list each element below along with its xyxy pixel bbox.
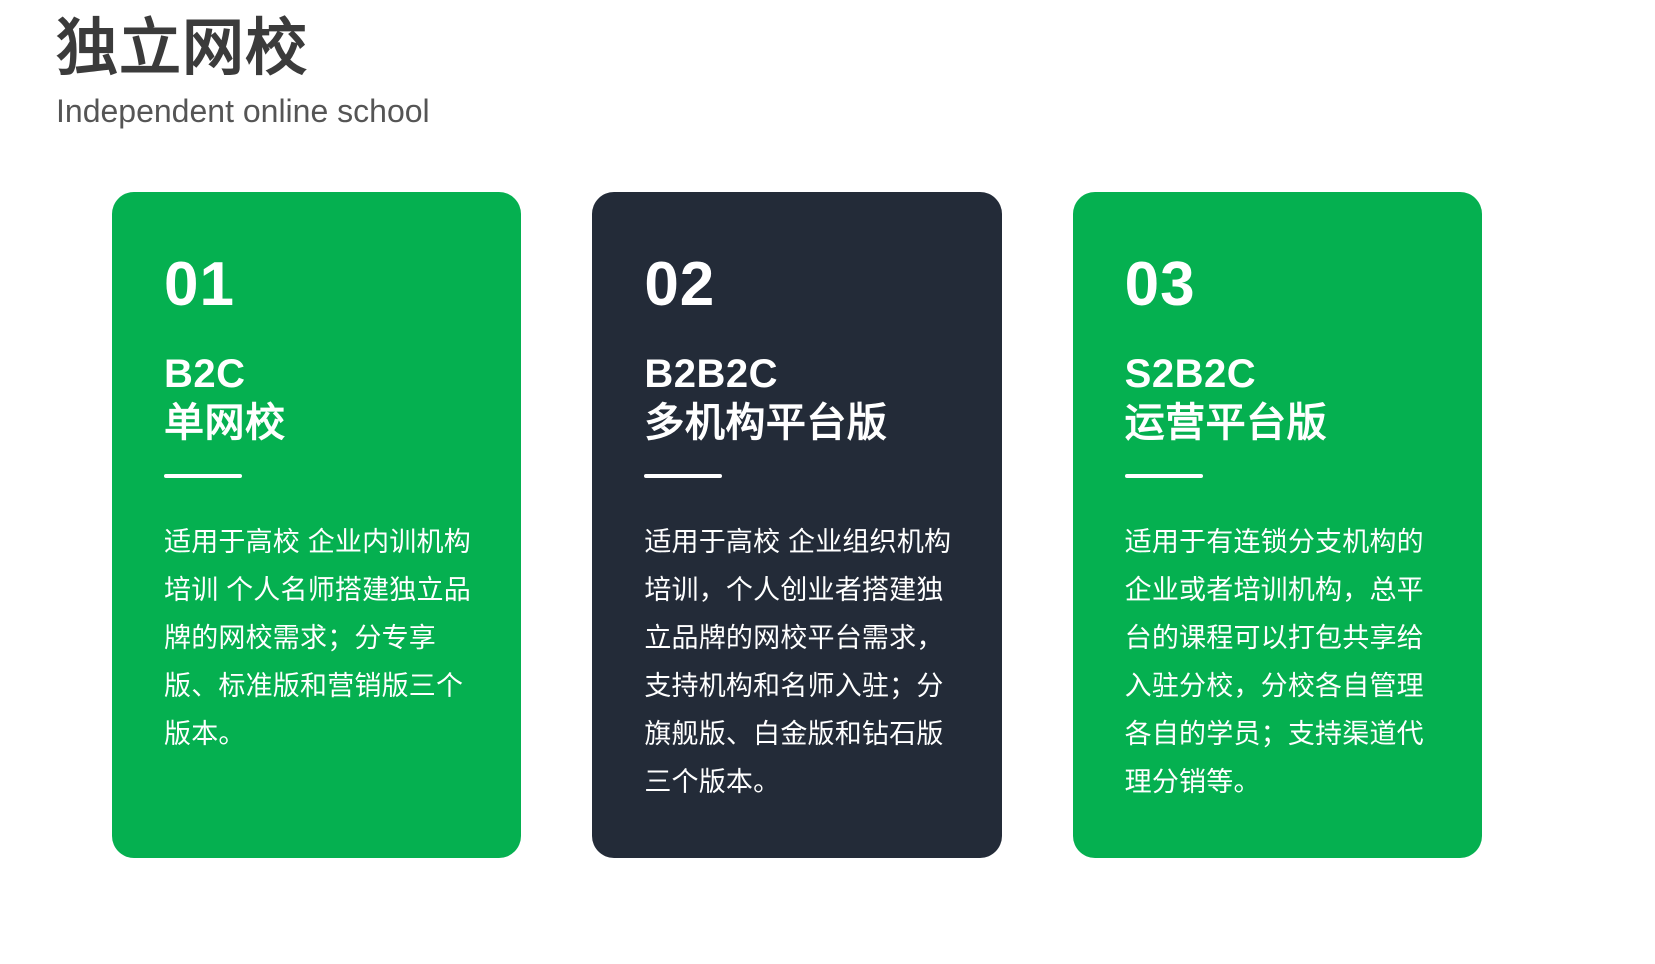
card-body: 适用于有连锁分支机构的企业或者培训机构，总平台的课程可以打包共享给入驻分校，分校… bbox=[1125, 518, 1438, 806]
plan-card-02[interactable]: 02 B2B2C 多机构平台版 适用于高校 企业组织机构培训，个人创业者搭建独立… bbox=[592, 192, 1001, 858]
card-code: S2B2C bbox=[1125, 350, 1438, 399]
card-number: 03 bbox=[1125, 254, 1438, 316]
card-body: 适用于高校 企业内训机构培训 个人名师搭建独立品牌的网校需求；分专享版、标准版和… bbox=[164, 518, 477, 758]
card-heading: B2B2C 多机构平台版 bbox=[644, 350, 957, 448]
card-heading: S2B2C 运营平台版 bbox=[1125, 350, 1438, 448]
card-subtitle: 单网校 bbox=[164, 399, 477, 448]
card-divider bbox=[1125, 474, 1203, 478]
page-title: 独立网校 bbox=[56, 14, 956, 83]
page-header: 独立网校 Independent online school bbox=[56, 14, 956, 131]
card-divider bbox=[644, 474, 722, 478]
card-divider bbox=[164, 474, 242, 478]
card-list: 01 B2C 单网校 适用于高校 企业内训机构培训 个人名师搭建独立品牌的网校需… bbox=[112, 192, 1482, 858]
plan-card-01[interactable]: 01 B2C 单网校 适用于高校 企业内训机构培训 个人名师搭建独立品牌的网校需… bbox=[112, 192, 521, 858]
card-code: B2C bbox=[164, 350, 477, 399]
card-body: 适用于高校 企业组织机构培训，个人创业者搭建独立品牌的网校平台需求，支持机构和名… bbox=[644, 518, 957, 806]
card-code: B2B2C bbox=[644, 350, 957, 399]
card-heading: B2C 单网校 bbox=[164, 350, 477, 448]
page-root: 独立网校 Independent online school 01 B2C 单网… bbox=[0, 0, 1655, 964]
card-number: 02 bbox=[644, 254, 957, 316]
card-number: 01 bbox=[164, 254, 477, 316]
plan-card-03[interactable]: 03 S2B2C 运营平台版 适用于有连锁分支机构的企业或者培训机构，总平台的课… bbox=[1073, 192, 1482, 858]
card-subtitle: 运营平台版 bbox=[1125, 399, 1438, 448]
card-subtitle: 多机构平台版 bbox=[644, 399, 957, 448]
page-subtitle: Independent online school bbox=[56, 91, 956, 131]
